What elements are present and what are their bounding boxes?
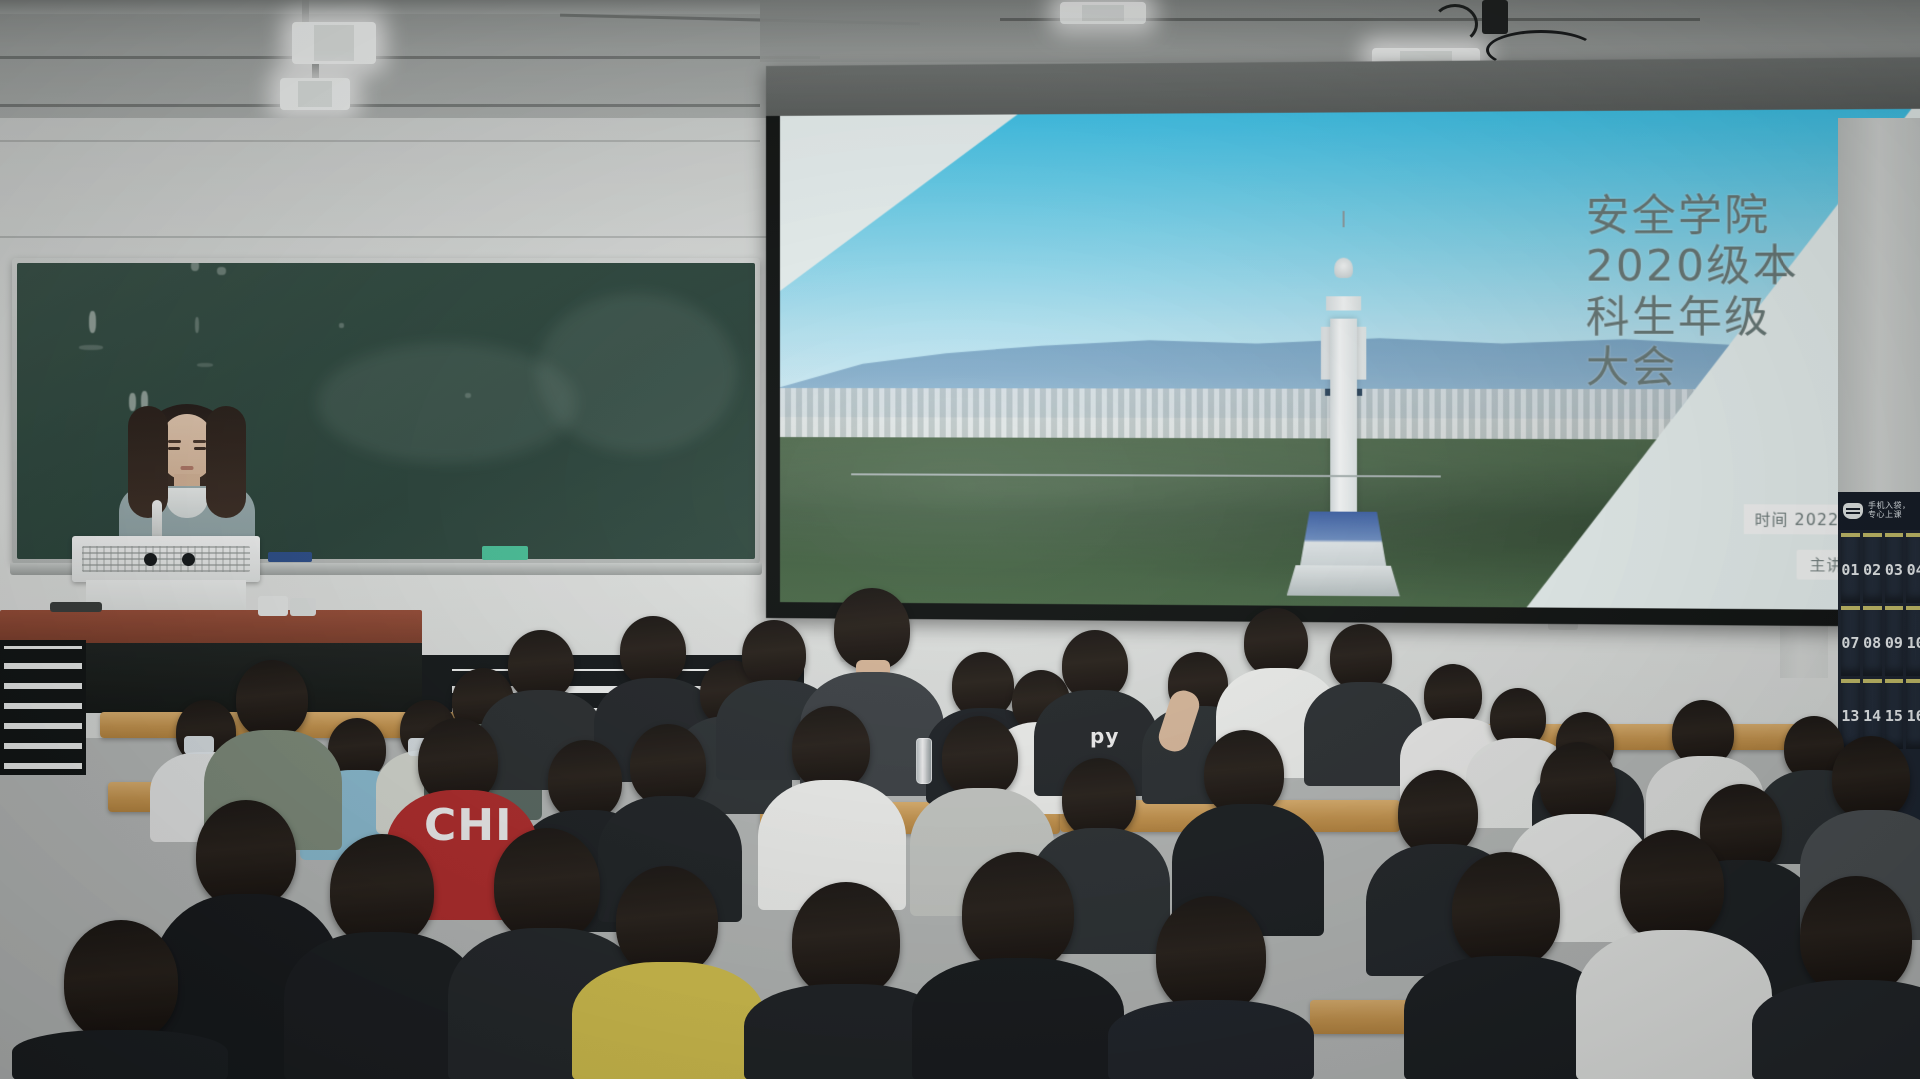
pocket-cell[interactable]: 04: [1906, 533, 1920, 603]
chalk-mark: [217, 267, 226, 275]
pocket-cell[interactable]: 10: [1906, 606, 1920, 676]
classroom-scene: EPSON: [0, 0, 1920, 1079]
student-head: [494, 828, 600, 942]
desk-item: [290, 598, 316, 616]
student-body: [912, 958, 1124, 1079]
lecturer-hair-strand: [206, 406, 246, 518]
pocket-cell[interactable]: 03: [1885, 533, 1904, 603]
pocket-cell[interactable]: 16: [1906, 679, 1920, 749]
desk-item: [50, 602, 102, 612]
tower-cap: [1326, 296, 1361, 310]
student-head: [1330, 624, 1392, 690]
lectern-speaker-grille: [82, 546, 250, 572]
student-head: [1424, 664, 1482, 726]
pocket-cell[interactable]: 15: [1885, 679, 1904, 749]
student-head: [630, 724, 706, 806]
student-head: [330, 834, 434, 946]
student-head: [1832, 736, 1910, 820]
chalk-box: [268, 552, 312, 562]
lecturer-eye: [168, 447, 180, 450]
student-head: [962, 852, 1074, 972]
student-head: [1452, 852, 1560, 968]
student-head: [1540, 742, 1616, 824]
eraser: [482, 546, 528, 560]
light-stem: [312, 64, 319, 78]
lectern-top: [72, 536, 260, 582]
desk-item: [258, 596, 288, 616]
student-head: [236, 660, 308, 738]
student-head: [1156, 896, 1266, 1014]
projection-screen: 安全学院 2020级本 科生年级 大会 时间 2022年6月17日 主讲人 乐平: [766, 57, 1920, 628]
tower-antenna: [1342, 211, 1344, 227]
pocket-cell[interactable]: 01: [1841, 533, 1860, 603]
ceiling-light: [1060, 2, 1146, 24]
pocket-cell[interactable]: 09: [1885, 606, 1904, 676]
light-stem: [302, 0, 309, 22]
student-head: [548, 740, 622, 820]
ceiling-beam: [760, 0, 1920, 62]
lecturer-brow: [168, 440, 181, 443]
lecturer-hair-strand: [128, 406, 168, 518]
stage-front-left: [0, 640, 86, 775]
tower-shaft: [1330, 319, 1357, 542]
chalk-mark: [195, 317, 199, 333]
student-head: [1620, 830, 1724, 942]
ceiling-light: [292, 22, 376, 64]
projector-cable: [1432, 4, 1478, 44]
student-head: [942, 716, 1018, 798]
ceiling-seam: [0, 104, 760, 107]
student-body: [1576, 930, 1772, 1079]
face-mask: [184, 736, 214, 754]
student-head: [1062, 758, 1136, 838]
student-head: [1800, 876, 1912, 996]
screen-top-bar: [766, 57, 1920, 116]
lectern-knob[interactable]: [144, 553, 157, 566]
pocket-board-header-text: 手机入袋， 专心上课: [1868, 502, 1911, 520]
projector-mount: [1482, 0, 1508, 34]
screen-surface: 安全学院 2020级本 科生年级 大会 时间 2022年6月17日 主讲人 乐平: [780, 108, 1920, 610]
chalk-mark: [339, 323, 344, 328]
lecturer-mouth: [181, 466, 194, 470]
student-head: [620, 616, 686, 686]
student-head: [792, 706, 870, 790]
chalk-mark: [79, 345, 103, 350]
chalk-mark: [191, 263, 199, 271]
ceiling-seam: [0, 56, 820, 59]
water-bottle: [916, 738, 932, 784]
chalk-mark: [197, 363, 213, 367]
ceiling-light: [280, 78, 350, 110]
student-head: [742, 620, 806, 688]
lectern-knob[interactable]: [182, 553, 195, 566]
student-body: [1108, 1000, 1314, 1079]
student-body: [572, 962, 764, 1079]
pocket-board-header: 手机入袋， 专心上课: [1838, 492, 1920, 530]
wall-seam: [0, 140, 760, 142]
presentation-slide: 安全学院 2020级本 科生年级 大会 时间 2022年6月17日 主讲人 乐平: [780, 108, 1920, 610]
student-body: [1752, 980, 1920, 1079]
student-head: [834, 588, 910, 670]
lecturer-brow: [193, 440, 206, 443]
student-head: [64, 920, 178, 1042]
teacher-desk: [0, 610, 422, 644]
tower-spire: [1334, 257, 1353, 277]
pocket-cell[interactable]: 07: [1841, 606, 1860, 676]
student-head: [792, 882, 900, 998]
student-head: [1244, 608, 1308, 676]
student-head: [196, 800, 296, 908]
pocket-cell[interactable]: 08: [1863, 606, 1882, 676]
lecturer-eye: [194, 447, 206, 450]
tower-plinth: [1287, 565, 1400, 597]
student-head: [616, 866, 718, 976]
mask-icon: [1843, 503, 1863, 519]
chalk-wipe: [537, 293, 737, 453]
pocket-cell[interactable]: 02: [1863, 533, 1882, 603]
chalk-mark: [89, 311, 96, 333]
wall-seam: [0, 236, 770, 238]
tower-base: [1299, 511, 1388, 573]
shirt-graphic-text: CHI: [424, 800, 513, 851]
student-body: [12, 1030, 228, 1079]
clock-tower: [1316, 211, 1370, 596]
shirt-graphic-text: py: [1090, 724, 1119, 748]
